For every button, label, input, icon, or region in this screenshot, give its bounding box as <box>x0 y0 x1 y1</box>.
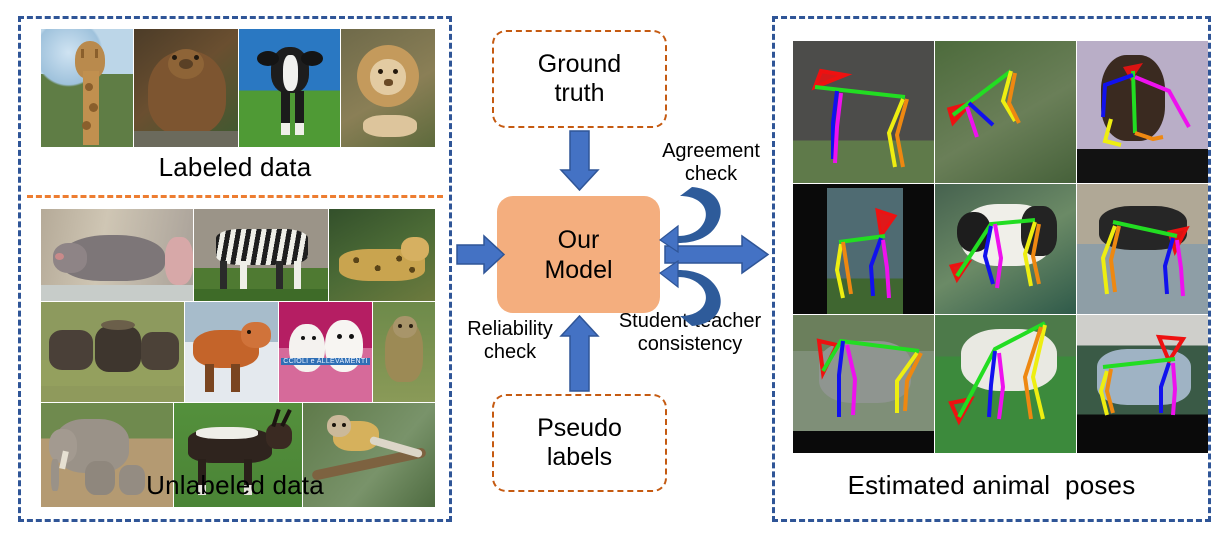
arrow-ground-truth-to-model-icon <box>561 131 598 190</box>
labeled-image-beaver <box>134 29 238 147</box>
arrow-model-to-results-icon <box>665 236 768 273</box>
unlabeled-image-leopard <box>329 209 435 301</box>
labeled-image-lion <box>341 29 435 147</box>
panel-divider <box>27 195 443 198</box>
puppies-overlay-text: CCIOLI e ALLEVAMENTI <box>281 358 370 365</box>
labeled-data-caption: Labeled data <box>21 153 449 182</box>
labeled-image-cow <box>239 29 340 147</box>
ground-truth-box: Ground truth <box>492 30 667 128</box>
arrow-pseudo-labels-to-model-icon <box>561 316 598 391</box>
pose-image-gazelle <box>793 41 934 183</box>
data-panel: Labeled data <box>18 16 452 522</box>
agreement-check-loop-icon <box>660 187 721 252</box>
pseudo-labels-label: Pseudo labels <box>537 414 622 472</box>
unlabeled-image-fox <box>185 302 278 402</box>
student-teacher-consistency-label: Student-teacher consistency <box>600 310 780 356</box>
agreement-check-label: Agreement check <box>645 140 777 186</box>
unlabeled-image-zebra <box>194 209 328 301</box>
pose-image-gorilla <box>1077 41 1208 183</box>
pseudo-labels-box: Pseudo labels <box>492 394 667 492</box>
pose-image-elephant <box>793 315 934 453</box>
ground-truth-label: Ground truth <box>538 50 621 108</box>
our-model-box: Our Model <box>497 196 660 313</box>
results-panel-caption: Estimated animal poses <box>775 471 1208 500</box>
unlabeled-image-buffalo-herd <box>41 302 184 402</box>
reliability-check-label: Reliability check <box>455 318 565 364</box>
unlabeled-image-hippopotamus <box>41 209 193 301</box>
pose-image-dog <box>1077 184 1208 314</box>
unlabeled-image-puppies: CCIOLI e ALLEVAMENTI <box>279 302 372 402</box>
unlabeled-data-caption: Unlabeled data <box>21 471 449 500</box>
pose-image-horse <box>793 184 934 314</box>
our-model-label: Our Model <box>544 225 612 285</box>
figure-root: Labeled data <box>0 0 1229 545</box>
pose-image-lizard <box>935 41 1076 183</box>
pose-image-panda <box>935 184 1076 314</box>
labeled-image-giraffe <box>41 29 133 147</box>
pose-image-sheep <box>935 315 1076 453</box>
results-panel: Estimated animal poses <box>772 16 1211 522</box>
unlabeled-image-marmot <box>373 302 435 402</box>
pose-image-cat <box>1077 315 1208 453</box>
